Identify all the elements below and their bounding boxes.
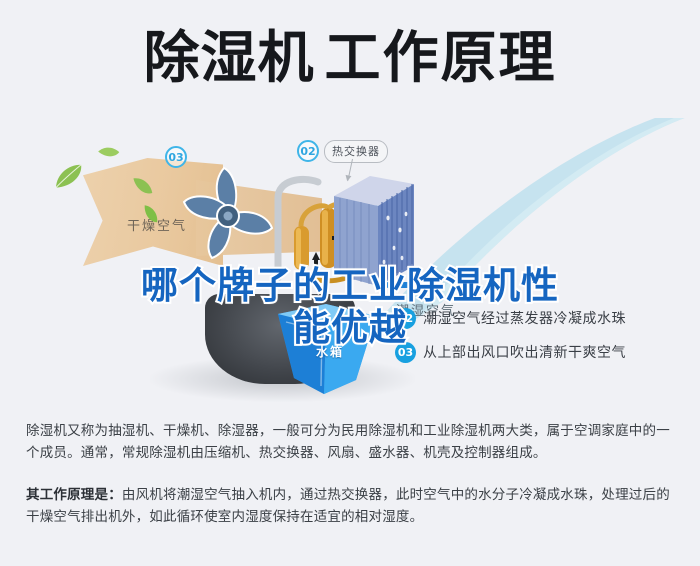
step-label: 潮湿空气经过蒸发器冷凝成水珠 xyxy=(423,308,626,328)
list-item: 02 潮湿空气经过蒸发器冷凝成水珠 xyxy=(395,301,695,335)
paragraph-overview: 除湿机又称为抽湿机、干燥机、除湿器，一般可分为民用除湿机和工业除湿机两大类，属于… xyxy=(26,420,674,464)
water-tank-label: 水箱 xyxy=(316,343,344,360)
poster-canvas: 除湿机工作原理 干燥空气 潮湿空气 03 02 01 热交换器 xyxy=(0,0,700,566)
leaf-icon xyxy=(50,161,89,191)
step-badge: 03 xyxy=(395,342,416,363)
page-title-part-a: 除湿机 xyxy=(144,26,315,89)
step-badge: 02 xyxy=(395,308,416,329)
steps-list: 02 潮湿空气经过蒸发器冷凝成水珠 03 从上部出风口吹出清新干爽空气 xyxy=(395,301,695,369)
step-label: 从上部出风口吹出清新干爽空气 xyxy=(423,342,626,362)
paragraph-principle: 其工作原理是：由风机将潮湿空气抽入机内，通过热交换器，此时空气中的水分子冷凝成水… xyxy=(26,484,674,528)
paragraph-principle-label: 其工作原理是： xyxy=(26,487,122,503)
page-title: 除湿机工作原理 xyxy=(0,28,700,88)
body-copy: 除湿机又称为抽湿机、干燥机、除湿器，一般可分为民用除湿机和工业除湿机两大类，属于… xyxy=(26,420,674,528)
air-inlet-arrow-icon xyxy=(383,278,423,292)
leaf-icon xyxy=(97,142,121,162)
diagram-badge-02: 02 xyxy=(297,140,319,162)
list-item: 03 从上部出风口吹出清新干爽空气 xyxy=(395,335,695,369)
paragraph-principle-text: 由风机将潮湿空气抽入机内，通过热交换器，此时空气中的水分子冷凝成水珠，处理过后的… xyxy=(26,487,670,525)
page-title-part-b: 工作原理 xyxy=(325,26,557,89)
heat-exchanger-callout: 热交换器 xyxy=(324,140,388,163)
